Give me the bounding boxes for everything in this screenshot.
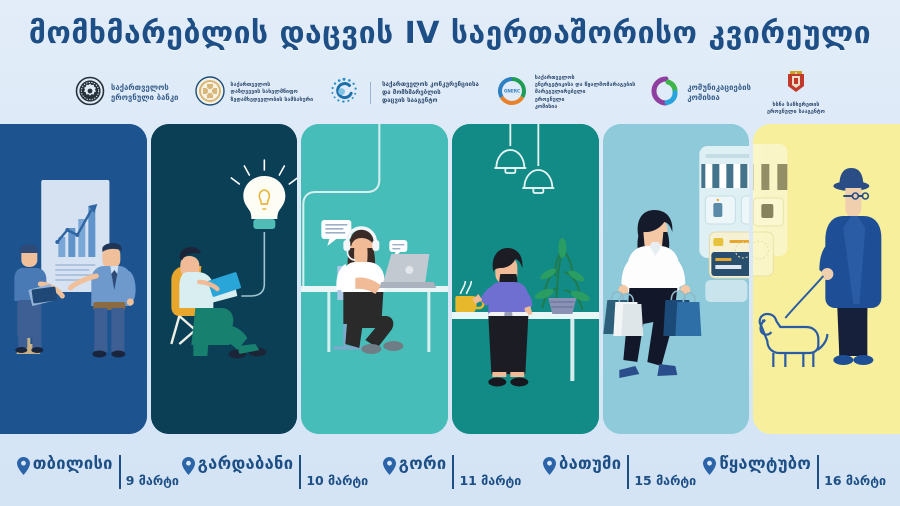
city-item: წყალტუბო 16 მარტი <box>703 455 886 489</box>
coat-of-arms-icon <box>786 70 806 98</box>
map-pin-icon <box>543 457 556 479</box>
panel-office-plant <box>452 124 599 434</box>
city-item: თბილისი 9 მარტი <box>14 455 182 489</box>
city-name: ბათუმი <box>559 455 621 472</box>
tri-color-ring-icon: GNERC <box>495 74 529 112</box>
logo-public-defender-agency: ხსნა საჩხერეთის ეროვნული სააგენტო <box>767 70 825 116</box>
panel-support-headset <box>301 124 448 434</box>
partner-logo-strip: საქართველოს ეროვნული ბანკი საქართველოს დ… <box>0 62 900 124</box>
page-title: მომხმარებლის დაცვის IV საერთაშორისო კვირ… <box>29 16 871 51</box>
city-body: ბათუმი 15 მარტი <box>559 455 696 489</box>
city-name: გორი <box>399 455 447 472</box>
panel-presentation-chart <box>0 124 147 434</box>
panel-shopping <box>603 124 750 434</box>
logo-divider <box>370 82 371 104</box>
city-date: 9 მარტი <box>126 473 179 489</box>
map-pin-icon <box>703 457 716 479</box>
city-date: 10 მარტი <box>306 473 368 489</box>
logo-insurance-supervision-service: საქართველოს დაზღვევის სახელმწიფო ზედამხე… <box>195 76 314 110</box>
map-pin-icon <box>17 457 30 479</box>
city-date: 16 მარტი <box>824 473 886 489</box>
city-item: გორი 11 მარტი <box>368 455 536 489</box>
title-bar: მომხმარებლის დაცვის IV საერთაშორისო კვირ… <box>0 0 900 62</box>
city-divider <box>119 455 121 489</box>
poster: მომხმარებლის დაცვის IV საერთაშორისო კვირ… <box>0 0 900 506</box>
logo-label: საქართველოს კონკურენციისა და მომხმარებლი… <box>382 81 479 105</box>
city-body: გორი 11 მარტი <box>399 455 522 489</box>
city-divider <box>452 455 454 489</box>
round-cross-seal-icon <box>195 76 225 110</box>
panel-idea-lightbulb <box>151 124 298 434</box>
city-name: გარდაბანი <box>198 455 294 472</box>
gear-seal-icon <box>75 76 105 110</box>
city-item: გარდაბანი 10 მარტი <box>182 455 369 489</box>
logo-label: საქართველოს ეროვნული ბანკი <box>111 83 179 103</box>
city-divider <box>299 455 301 489</box>
logo-label: კომუნიკაციების კომისია <box>687 83 751 103</box>
city-name: თბილისი <box>33 455 113 472</box>
map-pin-icon <box>182 457 195 479</box>
city-name: წყალტუბო <box>719 455 811 472</box>
logo-competition-consumer-agency: საქართველოს კონკურენციისა და მომხმარებლი… <box>329 76 479 110</box>
city-body: წყალტუბო 16 მარტი <box>719 455 886 489</box>
logo-label: ხსნა საჩხერეთის ეროვნული სააგენტო <box>767 102 825 116</box>
logo-gnerc: GNERC საქართველოს ენერგეტიკისა და წყალმო… <box>495 74 635 112</box>
city-date: 15 მარტი <box>634 473 696 489</box>
city-schedule: თბილისი 9 მარტი გარდაბანი 10 მარტი გორი <box>0 434 900 506</box>
illustration-panels <box>0 124 900 434</box>
city-body: გარდაბანი 10 მარტი <box>198 455 369 489</box>
logo-communications-commission: კომუნიკაციების კომისია <box>651 76 751 110</box>
logo-label: საქართველოს ენერგეტიკისა და წყალმომარაგე… <box>535 75 635 111</box>
logo-label: საქართველოს დაზღვევის სახელმწიფო ზედამხე… <box>231 82 314 104</box>
c-swirl-icon <box>651 76 681 110</box>
city-date: 11 მარტი <box>459 473 521 489</box>
city-item: ბათუმი 15 მარტი <box>536 455 704 489</box>
logo-national-bank-of-georgia: საქართველოს ეროვნული ბანკი <box>75 76 179 110</box>
gnerc-mark-label: GNERC <box>504 89 520 94</box>
panel-pedestrian-dog <box>753 124 900 434</box>
city-body: თბილისი 9 მარტი <box>33 455 179 489</box>
city-divider <box>817 455 819 489</box>
dotted-swirl-icon <box>329 76 359 110</box>
map-pin-icon <box>383 457 396 479</box>
city-divider <box>627 455 629 489</box>
